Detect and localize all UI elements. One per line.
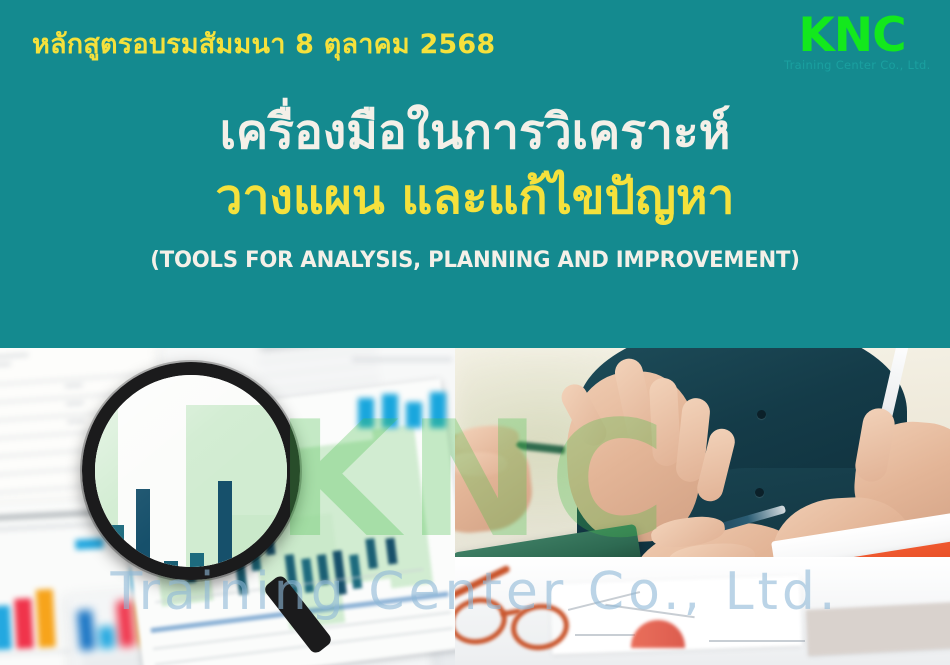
business-meeting-photo — [455, 348, 950, 665]
magnifying-glass-icon — [82, 362, 300, 580]
logo-mark-text: KNC — [784, 14, 920, 59]
photo-strip — [0, 348, 950, 665]
logo-subtitle-text: Training Center Co., Ltd. — [784, 60, 920, 72]
business-charts-magnifier-photo — [0, 348, 455, 665]
knc-logo[interactable]: KNC Training Center Co., Ltd. — [784, 14, 920, 71]
cyan-bar-chart — [352, 358, 455, 428]
course-title-english: (TOOLS FOR ANALYSIS, PLANNING AND IMPROV… — [29, 247, 922, 273]
course-date-text: หลักสูตรอบรมสัมมนา 8 ตุลาคม 2568 — [32, 28, 495, 62]
paper-sheet — [806, 602, 950, 656]
banner-header: หลักสูตรอบรมสัมมนา 8 ตุลาคม 2568 KNC Tra… — [0, 0, 950, 348]
course-title-block: เครื่องมือในการวิเคราะห์ วางแผน และแก้ไข… — [0, 104, 950, 273]
course-title-line-1: เครื่องมือในการวิเคราะห์ — [0, 104, 950, 161]
course-title-line-2: วางแผน และแก้ไขปัญหา — [0, 169, 950, 226]
course-banner: KNC Training Center Co., Ltd. หลักสูตรอบ… — [0, 0, 950, 665]
